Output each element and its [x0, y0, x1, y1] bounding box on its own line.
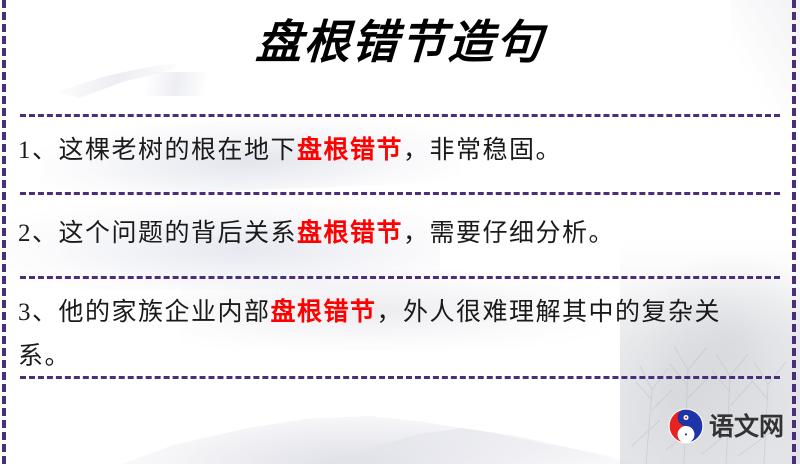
sentence-3-index: 3、 [18, 299, 59, 326]
sentence-3-keyword: 盘根错节 [271, 299, 377, 326]
sentence-2-before: 这个问题的背后关系 [59, 220, 298, 247]
yin-yang-fish-icon [668, 408, 704, 444]
sentence-item-2: 2、这个问题的背后关系盘根错节，需要仔细分析。 [18, 212, 774, 256]
sentence-2-index: 2、 [18, 220, 59, 247]
divider-2 [20, 192, 780, 195]
sentence-1-before: 这棵老树的根在地下 [59, 137, 298, 164]
sentence-2-after: ，需要仔细分析。 [403, 220, 615, 247]
divider-1 [20, 114, 780, 117]
sentence-2-keyword: 盘根错节 [297, 220, 403, 247]
sentence-1-after: ，非常稳固。 [403, 137, 562, 164]
sentence-1-keyword: 盘根错节 [297, 137, 403, 164]
page-title: 盘根错节造句 [255, 16, 546, 69]
sentence-3-before: 他的家族企业内部 [59, 299, 271, 326]
divider-3 [20, 276, 780, 279]
title-row: 盘根错节造句 [0, 16, 800, 69]
sentence-1-index: 1、 [18, 137, 59, 164]
logo-text: 语文网 [709, 414, 784, 439]
sentence-item-3: 3、他的家族企业内部盘根错节，外人很难理解其中的复杂关系。 [18, 291, 774, 379]
sentence-worksheet-page: 盘根错节造句 1、这棵老树的根在地下盘根错节，非常稳固。 2、这个问题的背后关系… [0, 0, 800, 464]
divider-4 [20, 376, 780, 379]
site-logo[interactable]: 语文网 [668, 408, 784, 444]
sentence-item-1: 1、这棵老树的根在地下盘根错节，非常稳固。 [18, 129, 774, 173]
